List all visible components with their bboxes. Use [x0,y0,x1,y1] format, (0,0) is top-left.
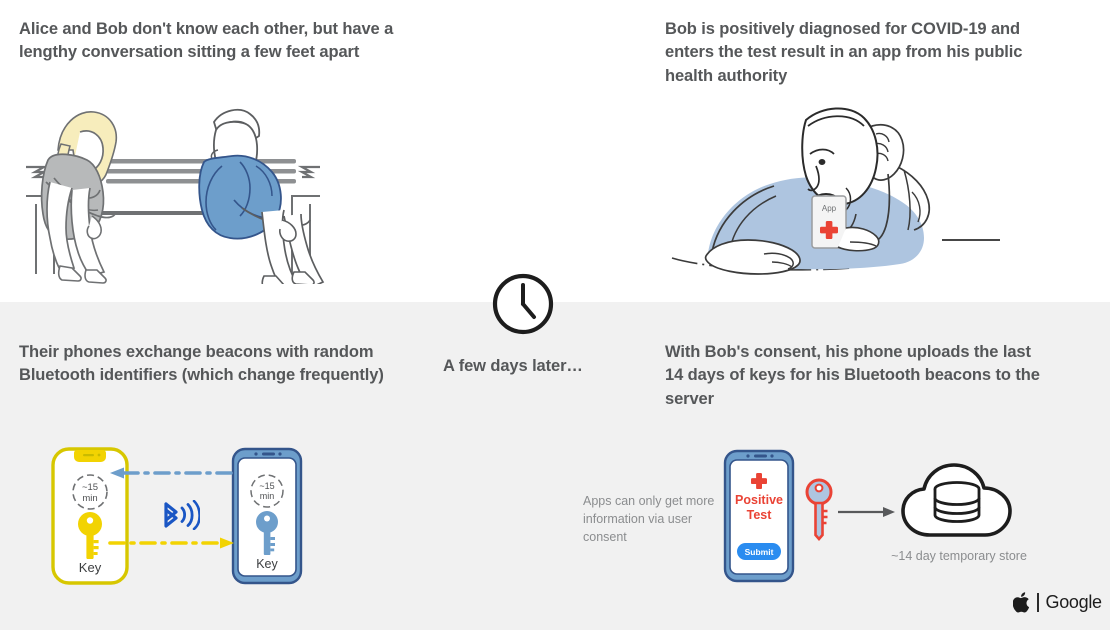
apple-google-logo: Google [1013,592,1102,613]
phone-blue: ~15 min Key [231,447,303,590]
beacon-arrow-blue-leftward [108,466,236,485]
top-right-caption: Bob is positively diagnosed for COVID-19… [665,18,1065,88]
consent-note: Apps can only get more information via u… [583,493,723,546]
apple-logo-icon [1013,592,1030,613]
sad-man-illustration: App [660,100,1000,290]
phone-positive-test: Positive Test Submit [723,449,795,588]
timer-value-line2: min [260,491,275,501]
key-label-blue: Key [256,557,278,571]
bottom-left-caption: Their phones exchange beacons with rando… [19,341,419,388]
a-few-days-later-label: A few days later… [443,357,583,376]
google-wordmark: Google [1046,592,1102,613]
logo-divider [1037,593,1039,612]
positive-line1: Positive [735,493,783,507]
red-key-icon [803,477,835,546]
key-label-yellow: Key [79,560,102,575]
infographic-canvas: Alice and Bob don't know each other, but… [0,0,1110,630]
positive-line2: Test [747,508,773,522]
bench-illustration [18,104,328,289]
phone-app-label: App [822,204,837,213]
beacon-arrow-yellow-rightward [108,536,236,555]
timer-value-line1: ~15 [82,482,98,493]
upload-arrow [838,505,896,523]
timer-value-line1: ~15 [259,481,274,491]
clock-icon [491,272,555,341]
bottom-right-caption: With Bob's consent, his phone uploads th… [665,341,1045,411]
timer-value-line2: min [82,493,97,504]
top-left-caption: Alice and Bob don't know each other, but… [19,18,409,65]
temporary-store-label: ~14 day temporary store [884,549,1034,563]
submit-button-label: Submit [745,547,774,557]
bluetooth-signal-icon [156,500,200,535]
cloud-database-icon [900,461,1018,548]
database-cylinder [935,483,979,522]
